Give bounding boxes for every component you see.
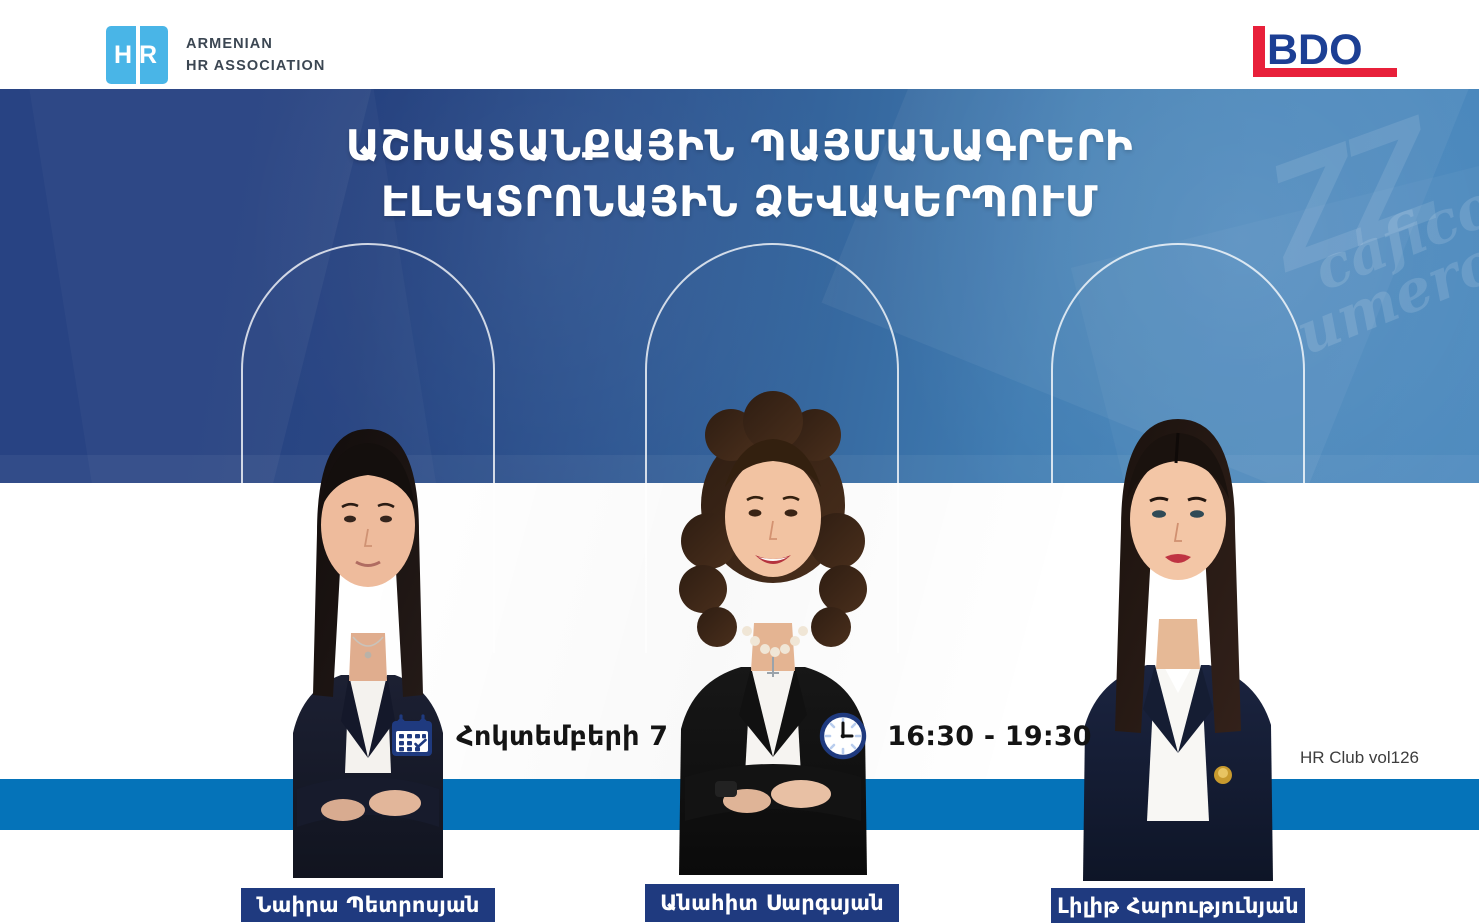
event-date-text: Հոկտեմբերի 7 — [456, 721, 668, 752]
hr-org-name: ARMENIAN HR ASSOCIATION — [186, 33, 325, 77]
speaker-nameplate[interactable]: Անահիտ Սարգսյան — [645, 884, 899, 922]
speaker-nameplate[interactable]: Լիլիթ Հարությունյան — [1051, 888, 1305, 923]
event-time: 16:30 - 19:30 — [818, 711, 1092, 761]
speaker-name: Անահիտ Սարգսյան — [660, 891, 884, 915]
speaker-name: Նաիրա Պետրոսյան — [256, 893, 479, 917]
title-line-1: ԱՇԽԱՏԱՆՔԱՅԻՆ ՊԱՅՄԱՆԱԳՐԵՐԻ — [346, 121, 1133, 170]
footer-bar — [0, 779, 1479, 830]
clock-icon — [818, 711, 868, 761]
speaker-name: Լիլիթ Հարությունյան — [1057, 894, 1299, 918]
banner-bottom-strip — [0, 455, 1479, 483]
hr-org-line-1: ARMENIAN — [186, 33, 325, 55]
page-title: ԱՇԽԱՏԱՆՔԱՅԻՆ ՊԱՅՄԱՆԱԳՐԵՐԻ ԷԼԵԿՏՐՈՆԱՅԻՆ Ձ… — [0, 118, 1479, 230]
event-meta-row: Հոկտեմբերի 7 16:30 - 19:30 — [0, 708, 1479, 764]
hr-org-line-2: HR ASSOCIATION — [186, 55, 325, 77]
event-time-text: 16:30 - 19:30 — [887, 721, 1092, 752]
hr-logo-letters: HR — [106, 26, 168, 84]
bdo-wordmark: BDO — [1267, 26, 1363, 74]
event-date: Հոկտեմբերի 7 — [387, 711, 668, 761]
hr-logo-icon: HR — [106, 26, 168, 84]
calendar-icon — [387, 711, 437, 761]
speaker-nameplate[interactable]: Նաիրա Պետրոսյան — [241, 888, 495, 922]
title-line-2: ԷԼԵԿՏՐՈՆԱՅԻՆ ՁԵՎԱԿԵՐՊՈՒՄ — [0, 174, 1479, 230]
page-header: HR ARMENIAN HR ASSOCIATION BDO — [0, 0, 1479, 89]
armenian-hr-association-logo[interactable]: HR ARMENIAN HR ASSOCIATION — [106, 26, 325, 84]
bdo-logo[interactable]: BDO — [1251, 24, 1397, 80]
hr-club-label: HR Club vol126 — [1300, 748, 1419, 768]
